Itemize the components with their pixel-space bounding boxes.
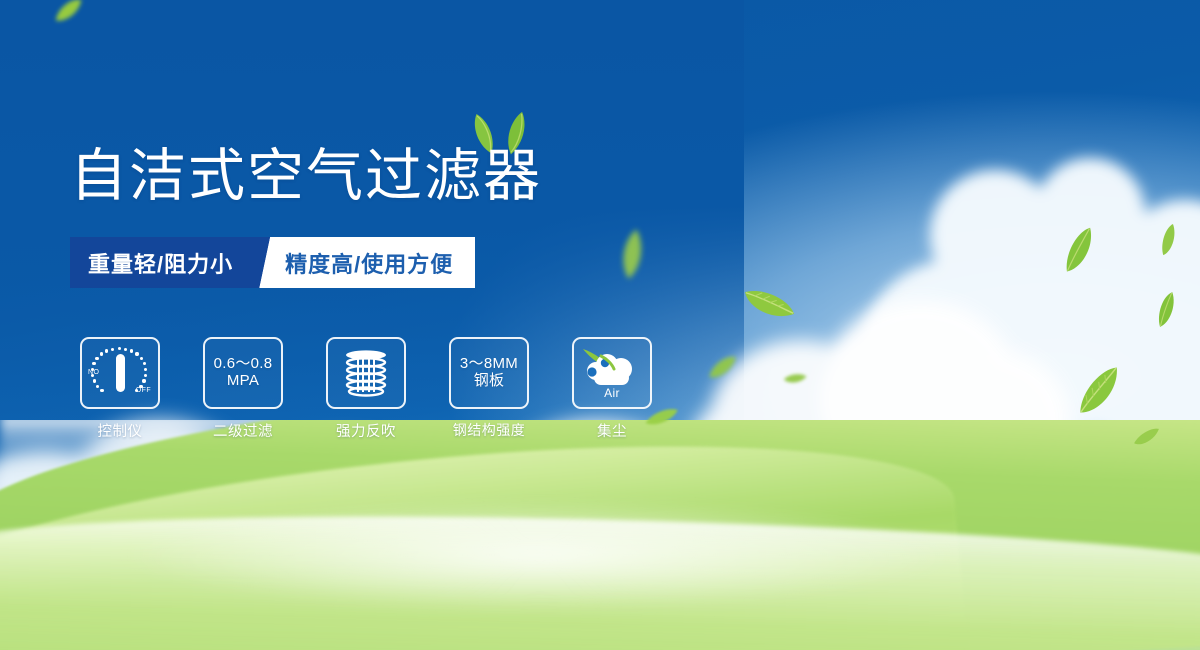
feature-item-strong-backflush[interactable]: 强力反吹	[326, 337, 406, 441]
feature-item-steel-structure-strength[interactable]: 3～8MM 钢板 钢结构强度	[449, 337, 529, 441]
filter-cartridge-icon	[338, 345, 394, 401]
subtitle-slant-divider	[253, 237, 279, 288]
feature-label: 集尘	[597, 420, 627, 441]
feature-icon-box: Air	[572, 337, 652, 409]
air-cloud-icon: Air	[581, 347, 643, 399]
feature-label: 钢结构强度	[453, 420, 526, 440]
feature-icon-box: NO OFF	[80, 337, 160, 409]
grass-field	[0, 420, 1200, 650]
feature-icon-box: 0.6～0.8 MPA	[203, 337, 283, 409]
feature-icon-box: 3～8MM 钢板	[449, 337, 529, 409]
feature-label: 强力反吹	[336, 420, 396, 441]
dial-label-no: NO	[88, 369, 99, 376]
promotional-banner: 自洁式空气过滤器 重量轻/阻力小 精度高/使用方便	[0, 0, 1200, 650]
steel-thickness-line2: 钢板	[474, 373, 505, 390]
air-label: Air	[581, 386, 643, 400]
steel-thickness-line1: 3～8MM	[460, 356, 518, 373]
control-dial-icon: NO OFF	[90, 346, 150, 400]
page-title: 自洁式空气过滤器	[70, 146, 542, 208]
pressure-value-line2: MPA	[227, 373, 259, 390]
dial-needle	[116, 354, 125, 392]
subtitle-left-segment: 重量轻/阻力小	[70, 237, 253, 288]
grass-highlight	[120, 500, 960, 610]
feature-item-two-stage-filtration[interactable]: 0.6～0.8 MPA 二级过滤	[203, 337, 283, 441]
feature-item-dust-collection[interactable]: Air 集尘	[572, 337, 652, 441]
pressure-value-line1: 0.6～0.8	[214, 356, 273, 373]
dial-label-off: OFF	[136, 387, 151, 394]
subtitle-bar: 重量轻/阻力小 精度高/使用方便	[70, 237, 475, 288]
feature-label: 控制仪	[98, 420, 143, 441]
feature-item-control-instrument[interactable]: NO OFF 控制仪	[80, 337, 160, 441]
feature-icon-box	[326, 337, 406, 409]
feature-list: NO OFF 控制仪 0.6～0.8 MPA 二级过滤	[80, 337, 652, 441]
feature-label: 二级过滤	[213, 420, 273, 441]
subtitle-right-segment: 精度高/使用方便	[279, 237, 475, 288]
